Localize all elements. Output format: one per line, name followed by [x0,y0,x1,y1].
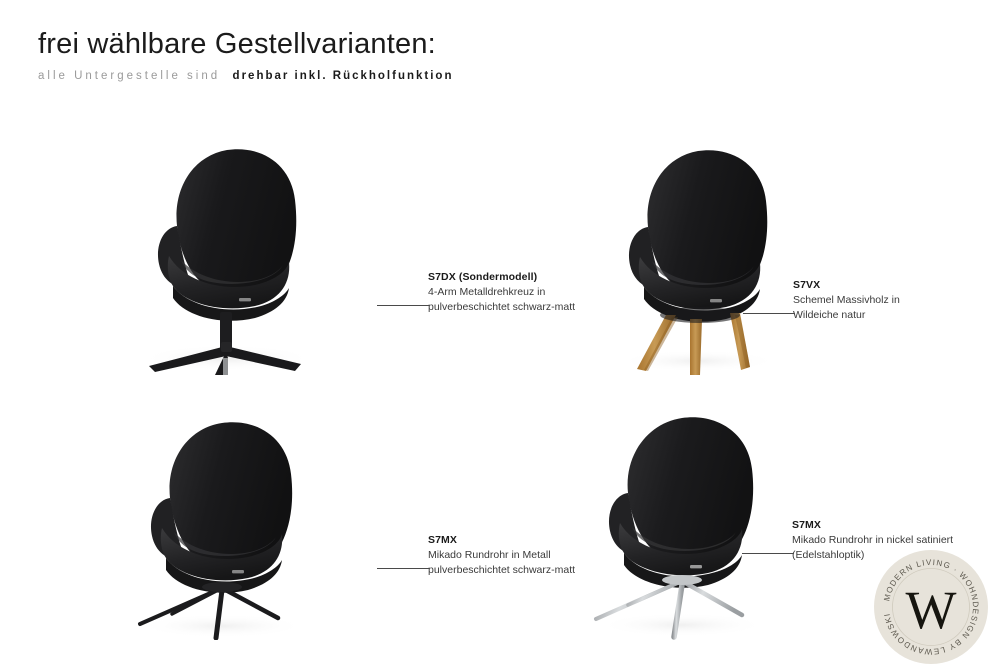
subtitle-bold-part: drehbar inkl. Rückholfunktion [233,70,454,82]
page-title: frei wählbare Gestellvarianten: [38,28,453,61]
label-rule [742,553,794,554]
product-card-s7vx: S7VX Schemel Massivholz in Wildeiche nat… [575,135,995,380]
chair-image-s7mx-nickel [570,405,800,640]
catalog-page: frei wählbare Gestellvarianten: alle Unt… [0,0,1000,666]
chair-image-s7mx-black [110,410,340,640]
product-code: S7DX (Sondermodell) [428,270,575,285]
product-desc-line-2: pulverbeschichtet schwarz-matt [428,300,575,315]
badge-monogram: W [906,580,957,640]
product-label-s7dx: S7DX (Sondermodell) 4-Arm Metalldrehkreu… [428,270,575,316]
brand-watermark-badge: MODERN LIVING · WOHNDESIGN BY LEWANDOWSK… [872,548,990,666]
subtitle-light-part: alle Untergestelle sind [38,70,220,82]
label-rule [377,568,429,569]
product-desc-line-1: Schemel Massivholz in [793,293,900,308]
product-code: S7MX [792,518,953,533]
page-subtitle: alle Untergestelle sind drehbar inkl. Rü… [38,71,453,83]
product-code: S7MX [428,533,575,548]
product-label-s7mx-black: S7MX Mikado Rundrohr in Metall pulverbes… [428,533,575,579]
product-card-s7dx: S7DX (Sondermodell) 4-Arm Metalldrehkreu… [95,130,535,380]
product-desc-line-1: 4-Arm Metalldrehkreuz in [428,285,575,300]
product-desc-line-1: Mikado Rundrohr in Metall [428,548,575,563]
product-card-s7mx-black: S7MX Mikado Rundrohr in Metall pulverbes… [95,405,535,655]
chair-image-s7dx [115,130,345,375]
page-header: frei wählbare Gestellvarianten: alle Unt… [38,28,453,83]
product-desc-line-1: Mikado Rundrohr in nickel satiniert [792,533,953,548]
product-label-s7vx: S7VX Schemel Massivholz in Wildeiche nat… [793,278,900,324]
label-rule [377,305,429,306]
label-rule [743,313,795,314]
product-desc-line-2: pulverbeschichtet schwarz-matt [428,563,575,578]
product-desc-line-2: Wildeiche natur [793,308,900,323]
product-code: S7VX [793,278,900,293]
chair-image-s7vx [590,135,810,375]
